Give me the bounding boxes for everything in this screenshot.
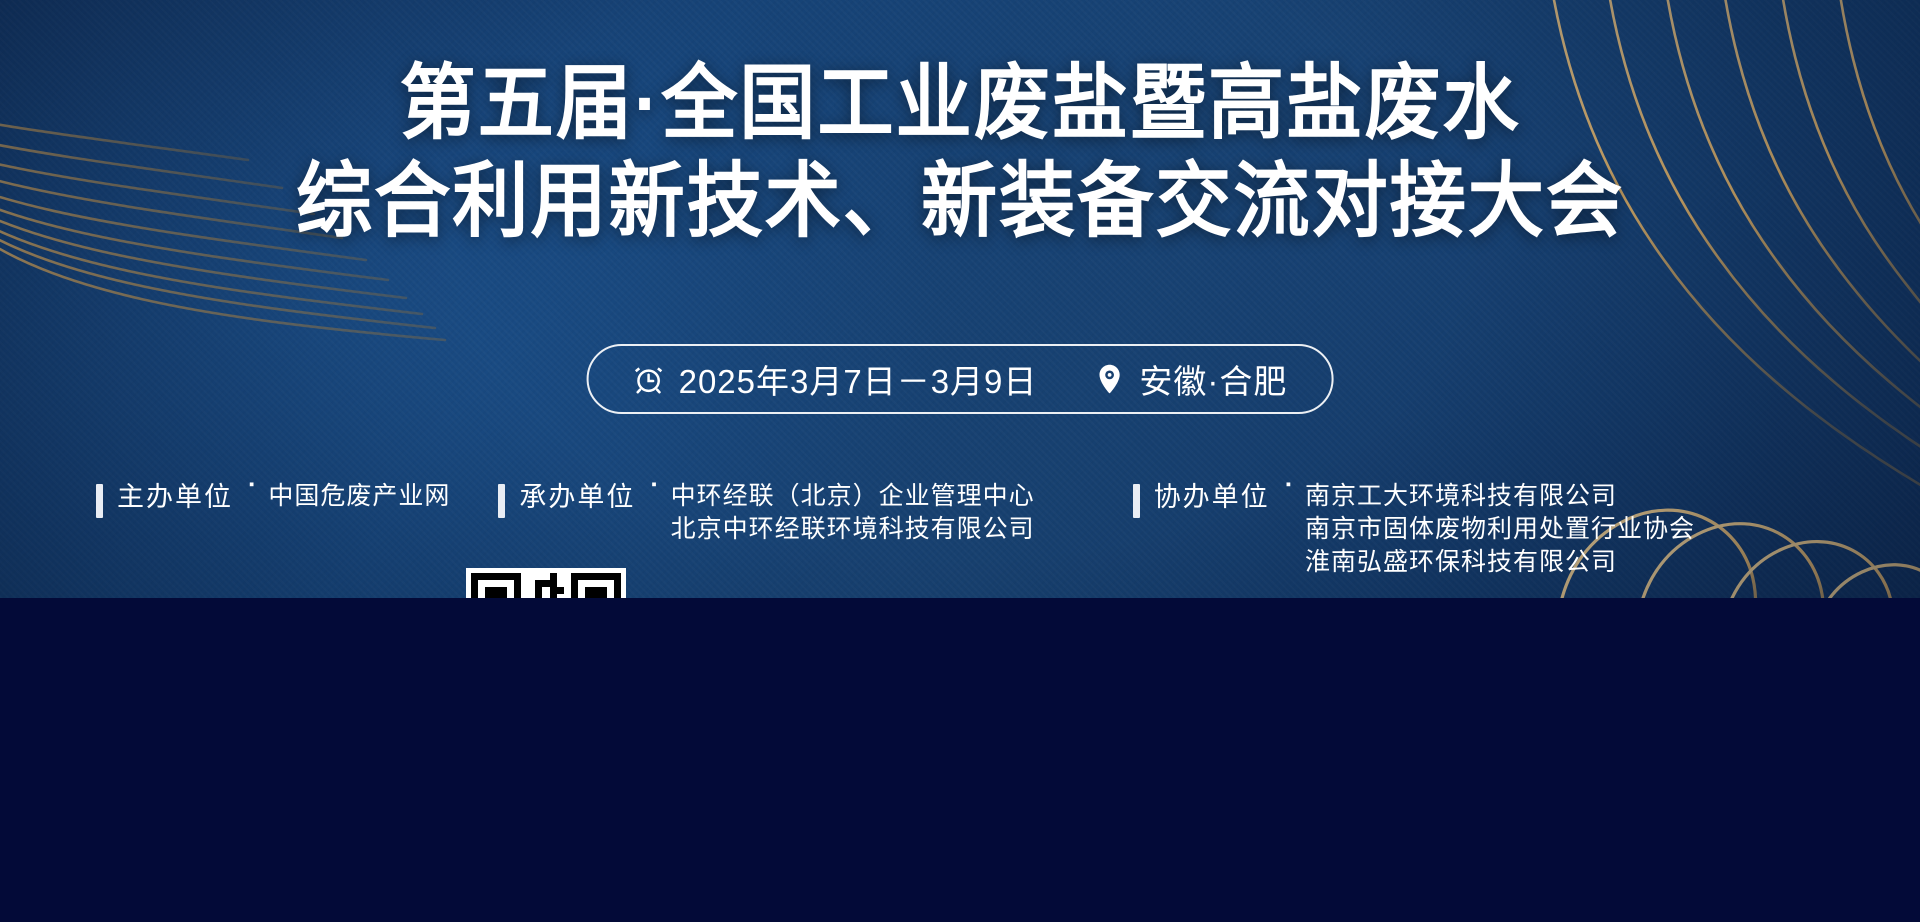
title-line-primary: 第五届·全国工业废盐暨高盐废水 [67, 58, 1853, 150]
organizer-accent-bar [1133, 484, 1140, 518]
organizer-group-organizer: 承办单位 ▪ 中环经联（北京）企业管理中心 北京中环经联环境科技有限公司 [498, 480, 1034, 546]
organizer-names: 中国危废产业网 [268, 480, 450, 513]
organizer-names: 南京工大环境科技有限公司 南京市固体废物利用处置行业协会 淮南弘盛环保科技有限公… [1305, 480, 1695, 579]
list-item: 北京中环经联环境科技有限公司 [671, 513, 1035, 546]
organizer-separator-icon: ▪ [651, 475, 656, 495]
title-line-secondary: 综合利用新技术、新装备交流对接大会 [67, 156, 1853, 248]
list-item: 南京工大环境科技有限公司 [1305, 480, 1695, 513]
organizer-group-host: 主办单位 ▪ 中国危废产业网 [96, 480, 450, 518]
alarm-clock-icon [633, 363, 665, 395]
organizer-separator-icon: ▪ [249, 475, 254, 495]
list-item: 中环经联（北京）企业管理中心 [671, 480, 1035, 513]
event-banner: 第五届·全国工业废盐暨高盐废水 综合利用新技术、新装备交流对接大会 2025年3… [0, 0, 1920, 598]
event-meta-pill: 2025年3月7日－3月9日 安徽·合肥 [587, 344, 1334, 414]
list-item: 淮南弘盛环保科技有限公司 [1305, 546, 1695, 579]
map-pin-icon [1093, 363, 1125, 395]
organizer-names: 中环经联（北京）企业管理中心 北京中环经联环境科技有限公司 [671, 480, 1035, 546]
qr-code-image[interactable] [466, 568, 626, 598]
list-item: 中国危废产业网 [268, 480, 450, 513]
organizer-accent-bar [498, 484, 505, 518]
organizer-role-label: 协办单位 [1154, 480, 1270, 516]
event-location: 安徽·合肥 [1093, 355, 1287, 403]
organizer-role-label: 主办单位 [117, 480, 233, 516]
list-item: 南京市固体废物利用处置行业协会 [1305, 513, 1695, 546]
page-title: 第五届·全国工业废盐暨高盐废水 综合利用新技术、新装备交流对接大会 [0, 58, 1920, 248]
event-date-text: 2025年3月7日－3月9日 [679, 355, 1038, 403]
event-date: 2025年3月7日－3月9日 [633, 355, 1038, 403]
event-location-text: 安徽·合肥 [1139, 355, 1287, 403]
organizer-accent-bar [96, 484, 103, 518]
organizer-list: 主办单位 ▪ 中国危废产业网 承办单位 ▪ 中环经联（北京）企业管理中心 北京中… [0, 480, 1920, 579]
organizer-role-label: 承办单位 [519, 480, 635, 516]
poster-page: 第五届·全国工业废盐暨高盐废水 综合利用新技术、新装备交流对接大会 2025年3… [0, 0, 1920, 922]
page-body-area [0, 598, 1920, 922]
organizer-group-coorganizer: 协办单位 ▪ 南京工大环境科技有限公司 南京市固体废物利用处置行业协会 淮南弘盛… [1133, 480, 1695, 579]
organizer-separator-icon: ▪ [1286, 475, 1291, 495]
